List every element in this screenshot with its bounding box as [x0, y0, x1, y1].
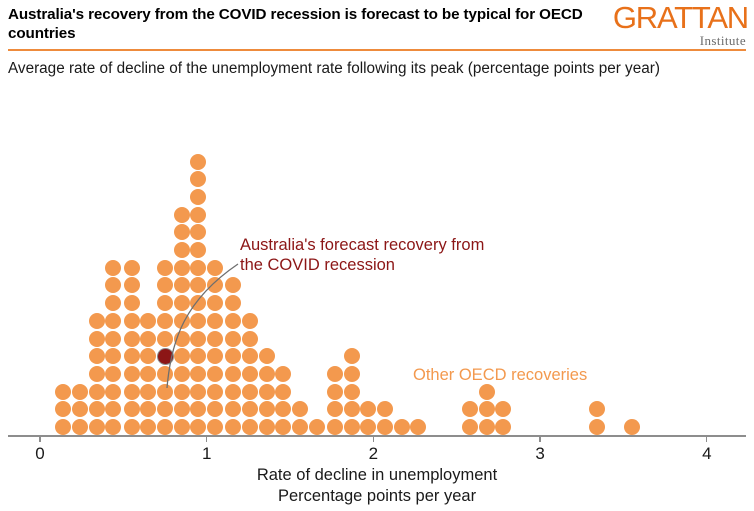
data-dot: [190, 295, 206, 311]
data-dot: [190, 242, 206, 258]
data-dot: [190, 207, 206, 223]
data-dot: [377, 419, 393, 435]
data-dot: [242, 366, 258, 382]
x-axis-title-line1: Rate of decline in unemployment: [0, 465, 754, 486]
data-dot: [479, 384, 495, 400]
data-dot: [259, 401, 275, 417]
data-dot: [589, 401, 605, 417]
data-dot: [157, 401, 173, 417]
data-dot: [174, 366, 190, 382]
data-dot: [190, 277, 206, 293]
data-dot: [207, 366, 223, 382]
data-dot: [479, 419, 495, 435]
data-dot: [190, 348, 206, 364]
data-dot: [275, 384, 291, 400]
data-dot: [89, 384, 105, 400]
data-dot: [140, 419, 156, 435]
data-dot: [327, 384, 343, 400]
data-dot: [259, 384, 275, 400]
data-dot: [207, 331, 223, 347]
x-tick-1: [206, 435, 207, 442]
data-dot: [190, 189, 206, 205]
data-dot: [479, 401, 495, 417]
data-dot: [124, 260, 140, 276]
x-tick-3: [539, 435, 540, 442]
x-tick-label-3: 3: [520, 444, 560, 464]
data-dot: [72, 384, 88, 400]
data-dot: [624, 419, 640, 435]
data-dot: [207, 384, 223, 400]
data-dot: [105, 295, 121, 311]
data-dot: [140, 313, 156, 329]
data-dot: [89, 366, 105, 382]
other-oecd-legend-label: Other OECD recoveries: [413, 366, 587, 385]
data-dot: [242, 331, 258, 347]
data-dot: [225, 366, 241, 382]
data-dot: [174, 295, 190, 311]
data-dot: [259, 348, 275, 364]
data-dot: [190, 366, 206, 382]
data-dot: [190, 260, 206, 276]
data-dot: [89, 313, 105, 329]
data-dot: [124, 331, 140, 347]
highlight-dot-australia: [157, 348, 174, 365]
data-dot: [495, 401, 511, 417]
data-dot: [105, 277, 121, 293]
data-dot: [174, 313, 190, 329]
data-dot: [207, 295, 223, 311]
data-dot: [190, 384, 206, 400]
data-dot: [55, 401, 71, 417]
data-dot: [242, 384, 258, 400]
x-tick-4: [706, 435, 707, 442]
data-dot: [124, 366, 140, 382]
data-dot: [105, 419, 121, 435]
data-dot: [105, 260, 121, 276]
data-dot: [190, 401, 206, 417]
x-axis-title-line2: Percentage points per year: [0, 486, 754, 507]
data-dot: [157, 277, 173, 293]
data-dot: [377, 401, 393, 417]
x-tick-2: [373, 435, 374, 442]
data-dot: [225, 401, 241, 417]
data-dot: [327, 401, 343, 417]
data-dot: [174, 419, 190, 435]
data-dot: [344, 419, 360, 435]
data-dot: [207, 260, 223, 276]
data-dot: [157, 366, 173, 382]
data-dot: [174, 207, 190, 223]
data-dot: [589, 419, 605, 435]
data-dot: [462, 419, 478, 435]
data-dot: [190, 171, 206, 187]
data-dot: [225, 313, 241, 329]
data-dot: [157, 295, 173, 311]
data-dot: [140, 366, 156, 382]
data-dot: [157, 384, 173, 400]
x-tick-label-2: 2: [353, 444, 393, 464]
data-dot: [344, 384, 360, 400]
data-dot: [242, 419, 258, 435]
data-dot: [157, 331, 173, 347]
data-dot: [242, 401, 258, 417]
x-axis-line: [8, 435, 746, 437]
data-dot: [190, 154, 206, 170]
dot-plot-chart: Australia's forecast recovery from the C…: [0, 0, 754, 511]
data-dot: [174, 331, 190, 347]
data-dot: [157, 419, 173, 435]
data-dot: [124, 384, 140, 400]
data-dot: [174, 260, 190, 276]
data-dot: [259, 366, 275, 382]
data-dot: [242, 313, 258, 329]
data-dot: [344, 401, 360, 417]
x-tick-0: [39, 435, 40, 442]
data-dot: [124, 295, 140, 311]
data-dot: [207, 401, 223, 417]
data-dot: [225, 384, 241, 400]
data-dot: [72, 401, 88, 417]
data-dot: [495, 419, 511, 435]
data-dot: [124, 313, 140, 329]
data-dot: [292, 419, 308, 435]
data-dot: [344, 366, 360, 382]
data-dot: [105, 401, 121, 417]
data-dot: [309, 419, 325, 435]
data-dot: [105, 366, 121, 382]
data-dot: [174, 401, 190, 417]
data-dot: [225, 348, 241, 364]
data-dot: [89, 419, 105, 435]
data-dot: [105, 313, 121, 329]
data-dot: [89, 348, 105, 364]
data-dot: [327, 366, 343, 382]
data-dot: [174, 224, 190, 240]
data-dot: [124, 401, 140, 417]
data-dot: [394, 419, 410, 435]
data-dot: [174, 242, 190, 258]
data-dot: [207, 313, 223, 329]
data-dot: [207, 419, 223, 435]
data-dot: [140, 348, 156, 364]
data-dot: [259, 419, 275, 435]
data-dot: [410, 419, 426, 435]
data-dot: [225, 331, 241, 347]
data-dot: [174, 348, 190, 364]
data-dot: [124, 348, 140, 364]
data-dot: [190, 419, 206, 435]
australia-annotation-label: Australia's forecast recovery from the C…: [240, 235, 500, 275]
data-dot: [225, 419, 241, 435]
data-dot: [124, 419, 140, 435]
data-dot: [360, 401, 376, 417]
data-dot: [292, 401, 308, 417]
data-dot: [89, 331, 105, 347]
data-dot: [140, 401, 156, 417]
data-dot: [190, 224, 206, 240]
data-dot: [190, 331, 206, 347]
data-dot: [72, 419, 88, 435]
data-dot: [55, 419, 71, 435]
data-dot: [242, 348, 258, 364]
data-dot: [140, 384, 156, 400]
data-dot: [190, 313, 206, 329]
data-dot: [105, 331, 121, 347]
data-dot: [344, 348, 360, 364]
data-dot: [275, 366, 291, 382]
x-tick-label-1: 1: [187, 444, 227, 464]
data-dot: [174, 384, 190, 400]
data-dot: [207, 348, 223, 364]
x-tick-label-0: 0: [20, 444, 60, 464]
data-dot: [55, 384, 71, 400]
data-dot: [140, 331, 156, 347]
data-dot: [360, 419, 376, 435]
data-dot: [89, 401, 105, 417]
x-tick-label-4: 4: [687, 444, 727, 464]
data-dot: [105, 384, 121, 400]
data-dot: [157, 313, 173, 329]
data-dot: [174, 277, 190, 293]
data-dot: [207, 277, 223, 293]
data-dot: [225, 277, 241, 293]
data-dot: [327, 419, 343, 435]
data-dot: [124, 277, 140, 293]
data-dot: [157, 260, 173, 276]
x-axis-title: Rate of decline in unemployment Percenta…: [0, 465, 754, 507]
data-dot: [275, 401, 291, 417]
data-dot: [275, 419, 291, 435]
data-dot: [225, 295, 241, 311]
data-dot: [105, 348, 121, 364]
data-dot: [462, 401, 478, 417]
